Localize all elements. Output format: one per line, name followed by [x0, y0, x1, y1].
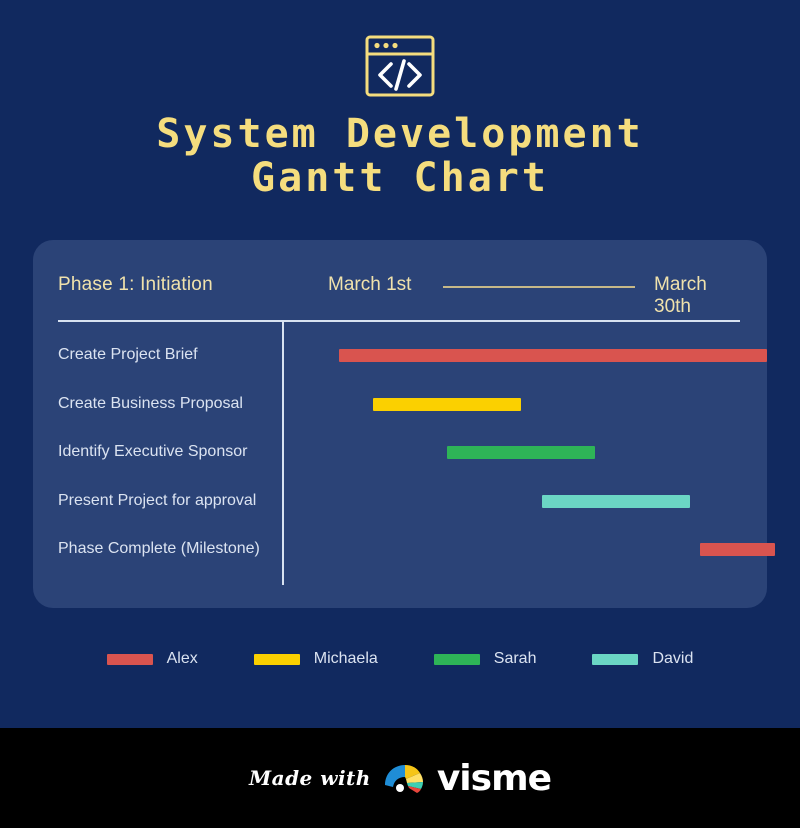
gantt-bar[interactable] [700, 543, 774, 556]
code-window-icon [364, 34, 436, 98]
legend-swatch-icon [254, 654, 300, 665]
legend-label: Alex [167, 650, 198, 668]
legend-item-michaela[interactable]: Michaela [254, 650, 378, 668]
date-range-end: March 30th [654, 274, 742, 318]
legend-label: Sarah [494, 650, 537, 668]
gantt-bar[interactable] [542, 495, 690, 508]
gantt-panel-header: Phase 1: Initiation March 1st March 30th [58, 270, 742, 310]
gantt-rows: Create Project Brief Create Business Pro… [33, 332, 767, 575]
gantt-row[interactable]: Present Project for approval [33, 478, 767, 527]
gantt-row[interactable]: Create Business Proposal [33, 381, 767, 430]
task-track [284, 381, 767, 430]
gantt-bar[interactable] [373, 398, 521, 411]
task-label: Create Business Proposal [58, 395, 243, 413]
page-title: System Development Gantt Chart [0, 112, 800, 200]
visme-fan-logo-icon [383, 761, 429, 795]
task-track [284, 429, 767, 478]
gantt-row[interactable]: Create Project Brief [33, 332, 767, 381]
header-divider-horizontal [58, 320, 740, 322]
task-track [284, 526, 767, 575]
visme-attribution[interactable]: Made with visme [0, 728, 800, 828]
legend-swatch-icon [592, 654, 638, 665]
gantt-panel: Phase 1: Initiation March 1st March 30th… [33, 240, 767, 608]
task-track [284, 478, 767, 527]
page-title-line-2: Gantt Chart [0, 156, 800, 200]
footer-bar: Made with visme [0, 728, 800, 828]
task-label: Identify Executive Sponsor [58, 443, 247, 461]
task-label: Present Project for approval [58, 492, 256, 510]
page-title-line-1: System Development [0, 112, 800, 156]
legend-label: Michaela [314, 650, 378, 668]
legend-swatch-icon [434, 654, 480, 665]
gantt-bar[interactable] [339, 349, 767, 362]
date-range-start: March 1st [328, 274, 411, 296]
made-with-label: Made with [249, 766, 371, 790]
legend-item-david[interactable]: David [592, 650, 693, 668]
task-label: Phase Complete (Milestone) [58, 540, 260, 558]
chart-legend: Alex Michaela Sarah David [0, 650, 800, 668]
legend-label: David [652, 650, 693, 668]
page-header: System Development Gantt Chart [0, 0, 800, 200]
gantt-bar[interactable] [447, 446, 595, 459]
legend-item-sarah[interactable]: Sarah [434, 650, 537, 668]
gantt-row[interactable]: Phase Complete (Milestone) [33, 526, 767, 575]
task-label: Create Project Brief [58, 346, 198, 364]
task-track [284, 332, 767, 381]
gantt-row[interactable]: Identify Executive Sponsor [33, 429, 767, 478]
phase-label: Phase 1: Initiation [58, 274, 213, 296]
legend-swatch-icon [107, 654, 153, 665]
legend-item-alex[interactable]: Alex [107, 650, 198, 668]
date-range-connector-line [443, 286, 635, 288]
visme-wordmark: visme [437, 758, 551, 799]
